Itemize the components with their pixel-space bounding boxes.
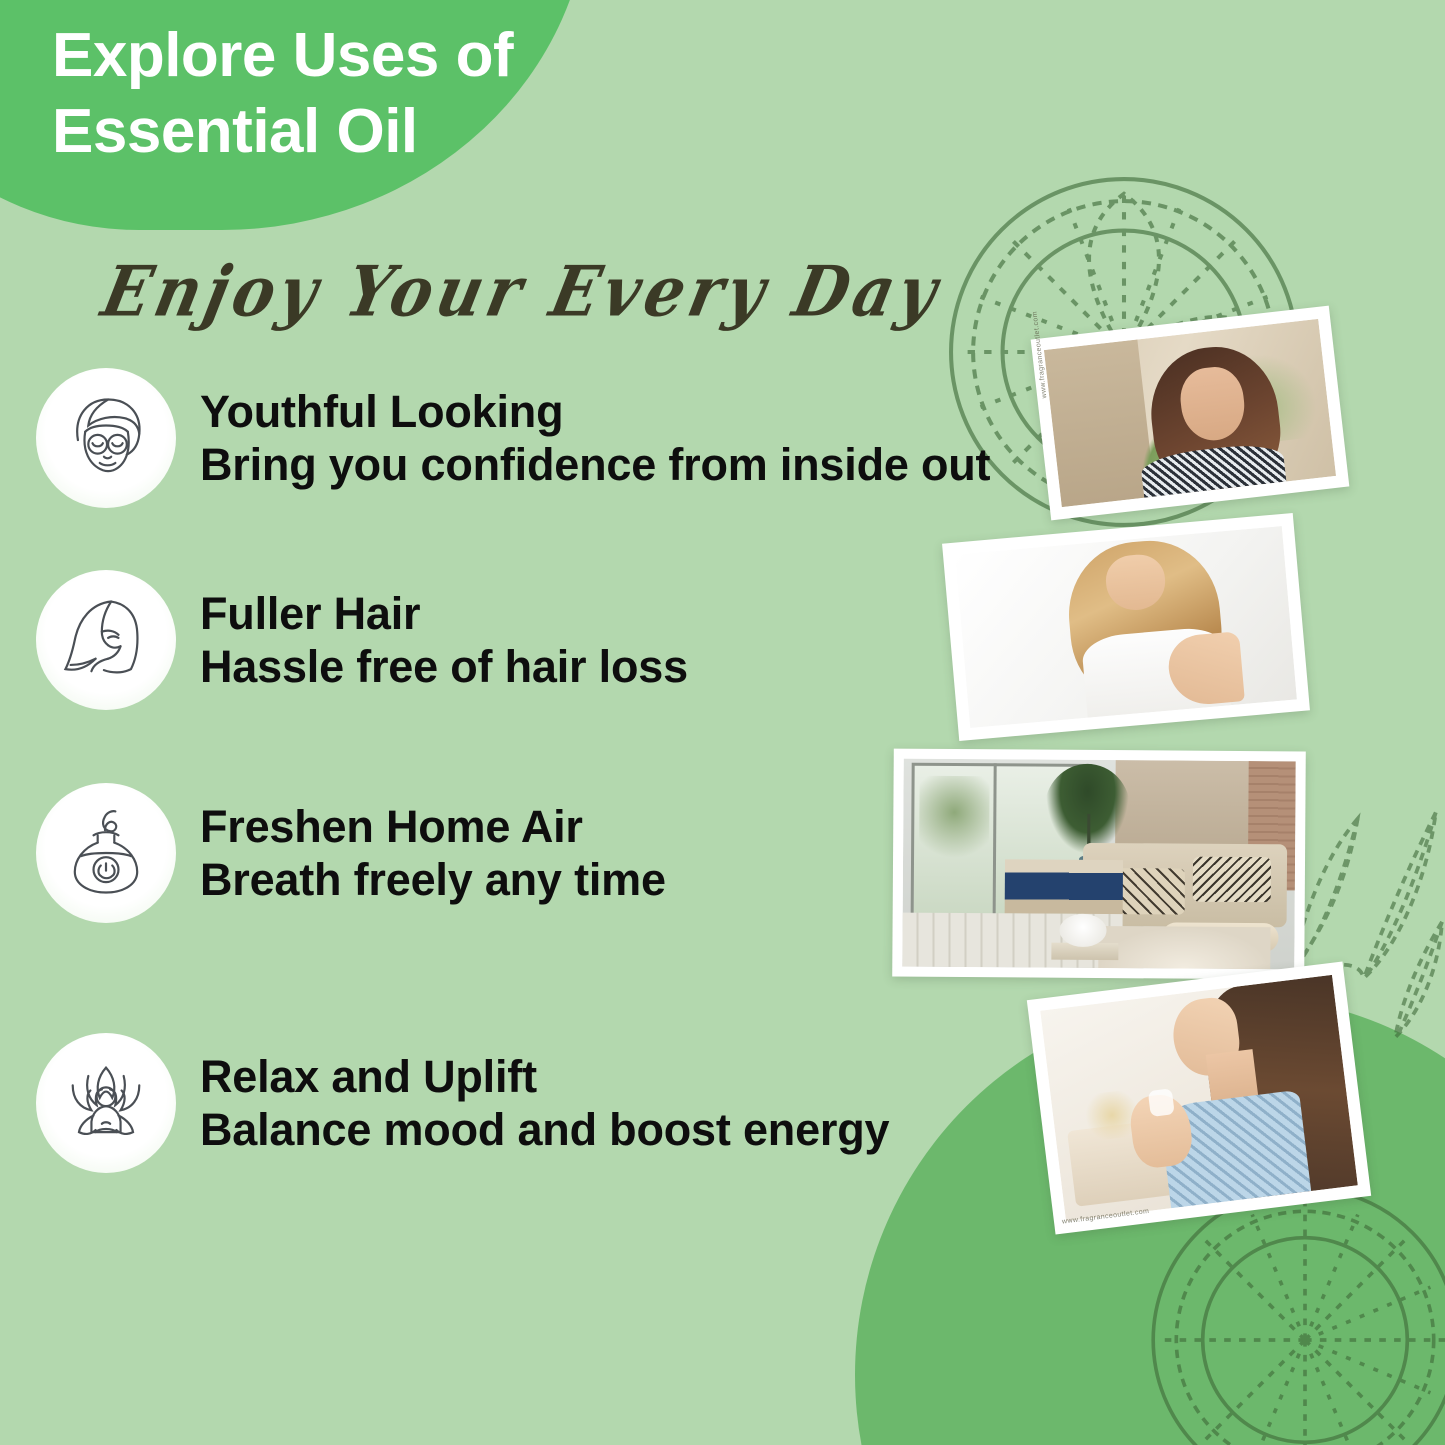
feature-text-block: Freshen Home Air Breath freely any time [200, 800, 666, 906]
feature-subtext: Balance mood and boost energy [200, 1103, 889, 1156]
feature-item-fuller-hair: Fuller Hair Hassle free of hair loss [36, 570, 688, 710]
essential-oil-uses-infographic: Explore Uses of Essential Oil Enjoy Your… [0, 0, 1445, 1445]
long-hair-profile-icon [36, 570, 176, 710]
lotus-meditation-icon [36, 1033, 176, 1173]
script-tagline: Enjoy Your Every Day [95, 251, 949, 333]
feature-text-block: Relax and Uplift Balance mood and boost … [200, 1050, 889, 1156]
aroma-diffuser-icon [36, 783, 176, 923]
feature-subtext: Breath freely any time [200, 853, 666, 906]
photo-smiling-woman: www.fragranceoutlet.com [1031, 306, 1350, 521]
photo-woman-applying-perfume-image [1040, 975, 1358, 1221]
photo-smiling-woman-image [1044, 319, 1336, 507]
feature-subtext: Hassle free of hair loss [200, 640, 688, 693]
feature-text-block: Fuller Hair Hassle free of hair loss [200, 587, 688, 693]
feature-heading: Youthful Looking [200, 385, 990, 438]
face-mask-icon [36, 368, 176, 508]
feature-heading: Fuller Hair [200, 587, 688, 640]
photo-woman-applying-perfume: www.fragranceoutlet.com [1027, 962, 1371, 1235]
photo-boho-living-room-image [902, 759, 1295, 970]
page-title: Explore Uses of Essential Oil [52, 18, 672, 169]
feature-item-youthful-looking: Youthful Looking Bring you confidence fr… [36, 368, 990, 508]
photo-long-wavy-hair-model [942, 513, 1310, 741]
feature-heading: Freshen Home Air [200, 800, 666, 853]
feature-heading: Relax and Uplift [200, 1050, 889, 1103]
feature-item-relax-and-uplift: Relax and Uplift Balance mood and boost … [36, 1033, 889, 1173]
photo-long-wavy-hair-model-image [955, 526, 1297, 728]
feature-item-freshen-home-air: Freshen Home Air Breath freely any time [36, 783, 666, 923]
feature-subtext: Bring you confidence from inside out [200, 438, 990, 491]
feature-text-block: Youthful Looking Bring you confidence fr… [200, 385, 990, 491]
photo-boho-living-room [892, 749, 1306, 980]
